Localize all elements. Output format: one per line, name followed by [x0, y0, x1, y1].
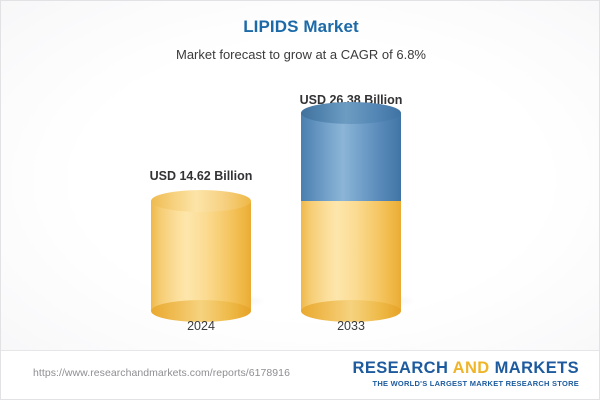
- chart-footer: https://www.researchandmarkets.com/repor…: [1, 350, 600, 399]
- cylinder-top-cap: [301, 102, 401, 124]
- category-label-2033: 2033: [276, 319, 426, 333]
- brand-name-research: RESEARCH: [353, 359, 453, 377]
- brand-tagline: THE WORLD'S LARGEST MARKET RESEARCH STOR…: [353, 379, 580, 389]
- page-title: LIPIDS Market: [1, 17, 600, 37]
- category-label-2024: 2024: [126, 319, 276, 333]
- brand-name-and: AND: [453, 359, 490, 377]
- bar-segment-2033-blue: [301, 113, 401, 201]
- bar-segment-2024-yellow: [151, 201, 251, 311]
- chart-card: LIPIDS Market Market forecast to grow at…: [0, 0, 600, 400]
- plot-area: USD 14.62 Billion 2024 USD 26.38 Billion: [1, 81, 600, 343]
- bar-group-2024: USD 14.62 Billion 2024: [126, 81, 276, 343]
- bar-cylinder-2033: [301, 113, 401, 311]
- value-label-2024: USD 14.62 Billion: [126, 169, 276, 183]
- cylinder-body: [301, 201, 401, 311]
- bar-group-2033: USD 26.38 Billion 2033: [276, 81, 426, 343]
- bar-segment-2033-yellow: [301, 201, 401, 311]
- cylinder-body: [151, 201, 251, 311]
- cylinder-top-cap: [151, 190, 251, 212]
- bar-cylinder-2024: [151, 201, 251, 311]
- brand-name: RESEARCH AND MARKETS: [353, 359, 580, 378]
- brand-name-markets: MARKETS: [490, 359, 579, 377]
- source-url-link[interactable]: https://www.researchandmarkets.com/repor…: [33, 367, 290, 379]
- cylinder-body: [301, 113, 401, 201]
- chart-header: LIPIDS Market Market forecast to grow at…: [1, 1, 600, 63]
- brand-logo: RESEARCH AND MARKETS THE WORLD'S LARGEST…: [353, 359, 580, 389]
- chart-subtitle: Market forecast to grow at a CAGR of 6.8…: [1, 47, 600, 63]
